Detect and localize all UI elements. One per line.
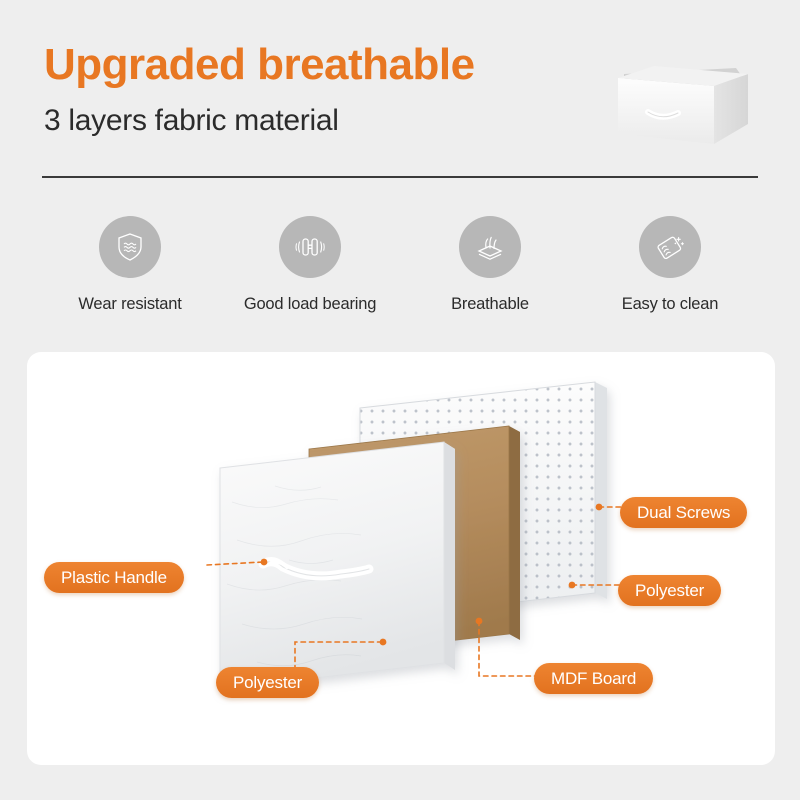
feature-label: Easy to clean <box>622 295 718 314</box>
callout-polyester-bottom: Polyester <box>216 667 319 698</box>
breathable-layers-icon <box>459 216 521 278</box>
shield-wave-icon <box>99 216 161 278</box>
leader-dot-dual-screws <box>596 504 603 511</box>
callout-polyester-right: Polyester <box>618 575 721 606</box>
feature-label: Wear resistant <box>78 295 181 314</box>
exploded-layers-diagram <box>27 352 775 765</box>
page-subtitle: 3 layers fabric material <box>44 104 574 138</box>
feature-item-wear-resistant: Wear resistant <box>40 216 220 314</box>
section-divider <box>42 176 758 178</box>
leader-dot-polyester-bottom <box>380 639 387 646</box>
feature-item-good-load-bearing: Good load bearing <box>220 216 400 314</box>
page-title: Upgraded breathable <box>44 42 574 88</box>
feature-label: Breathable <box>451 295 529 314</box>
feature-label: Good load bearing <box>244 295 376 314</box>
feature-item-easy-to-clean: Easy to clean <box>580 216 760 314</box>
callout-dual-screws: Dual Screws <box>620 497 747 528</box>
cleaning-sparkle-icon <box>639 216 701 278</box>
callout-mdf-board: MDF Board <box>534 663 653 694</box>
leader-dot-plastic-handle <box>261 559 268 566</box>
feature-item-breathable: Breathable <box>400 216 580 314</box>
dumbbell-icon <box>279 216 341 278</box>
product-photo <box>596 52 764 154</box>
leader-dot-polyester-right <box>569 582 576 589</box>
header: Upgraded breathable 3 layers fabric mate… <box>44 42 574 138</box>
callout-plastic-handle: Plastic Handle <box>44 562 184 593</box>
feature-list: Wear resistant Good load bearing <box>40 216 760 314</box>
layer-front-polyester <box>220 442 455 689</box>
leader-dot-mdf-board <box>476 618 483 625</box>
materials-card <box>27 352 775 765</box>
